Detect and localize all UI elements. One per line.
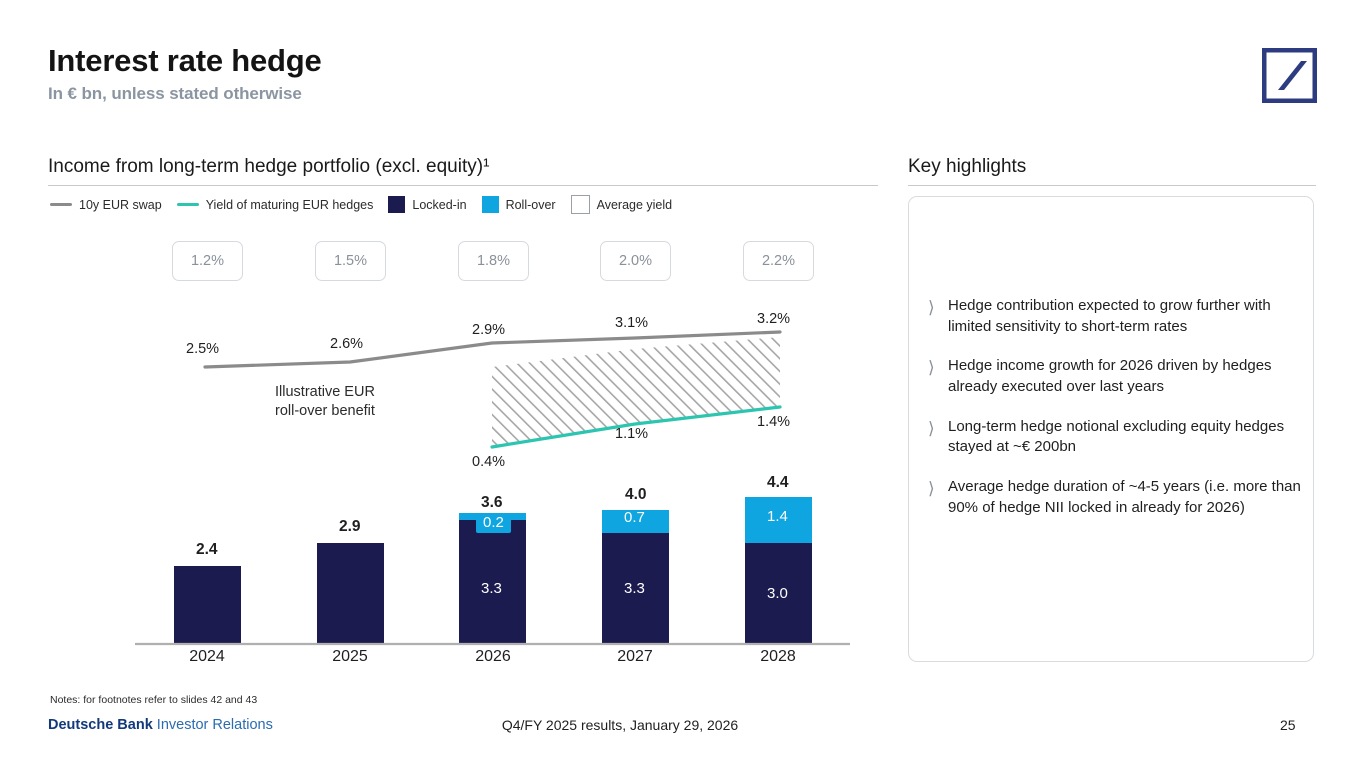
list-item: ⟩ Long-term hedge notional excluding equ… <box>922 417 1314 458</box>
bar-segment-label-locked-in-2028: 3.0 <box>767 585 788 602</box>
right-section-heading: Key highlights <box>908 156 1026 178</box>
bar-segment-label-locked-in-2026: 3.3 <box>481 580 502 597</box>
list-item-text: Hedge contribution expected to grow furt… <box>948 296 1314 337</box>
bar-locked-in-2024 <box>174 566 241 643</box>
chart-graphics <box>0 0 880 700</box>
bar-segment-label-roll-over-2026: 0.2 <box>476 513 511 533</box>
list-item: ⟩ Hedge contribution expected to grow fu… <box>922 296 1314 337</box>
page-number: 25 <box>1280 717 1296 733</box>
swap-label-2025: 2.6% <box>330 336 363 352</box>
x-tick-2028: 2028 <box>728 648 828 666</box>
illustrative-annotation-line2: roll-over benefit <box>275 402 375 421</box>
chevron-right-icon: ⟩ <box>922 477 948 518</box>
swap-label-2026: 2.9% <box>472 322 505 338</box>
bar-total-label-2026: 3.6 <box>481 494 503 512</box>
swap-label-2024: 2.5% <box>186 341 219 357</box>
x-tick-2026: 2026 <box>443 648 543 666</box>
bar-segment-label-roll-over-2028: 1.4 <box>767 508 788 525</box>
illustrative-annotation: Illustrative EUR roll-over benefit <box>275 383 375 421</box>
footer-center-text: Q4/FY 2025 results, January 29, 2026 <box>0 717 1240 733</box>
x-tick-2027: 2027 <box>585 648 685 666</box>
bar-segment-label-locked-in-2027: 3.3 <box>624 580 645 597</box>
footnote-reference: Notes: for footnotes refer to slides 42 … <box>50 694 257 706</box>
bar-total-label-2025: 2.9 <box>339 518 361 536</box>
list-item: ⟩ Hedge income growth for 2026 driven by… <box>922 356 1314 397</box>
chevron-right-icon: ⟩ <box>922 296 948 337</box>
key-highlights-list: ⟩ Hedge contribution expected to grow fu… <box>922 296 1314 538</box>
maturing-yield-label-2026: 0.4% <box>472 454 505 470</box>
bar-total-label-2024: 2.4 <box>196 541 218 559</box>
swap-label-2027: 3.1% <box>615 315 648 331</box>
bar-total-label-2027: 4.0 <box>625 486 647 504</box>
bar-total-label-2028: 4.4 <box>767 474 789 492</box>
chevron-right-icon: ⟩ <box>922 356 948 397</box>
swap-label-2028: 3.2% <box>757 311 790 327</box>
x-tick-2024: 2024 <box>157 648 257 666</box>
bar-segment-label-roll-over-2027: 0.7 <box>624 509 645 526</box>
x-tick-2025: 2025 <box>300 648 400 666</box>
maturing-yield-label-2027: 1.1% <box>615 426 648 442</box>
list-item-text: Long-term hedge notional excluding equit… <box>948 417 1314 458</box>
list-item: ⟩ Average hedge duration of ~4-5 years (… <box>922 477 1314 518</box>
chevron-right-icon: ⟩ <box>922 417 948 458</box>
bar-locked-in-2025 <box>317 543 384 643</box>
maturing-yield-label-2028: 1.4% <box>757 414 790 430</box>
list-item-text: Average hedge duration of ~4-5 years (i.… <box>948 477 1314 518</box>
slide: Interest rate hedge In € bn, unless stat… <box>0 0 1365 768</box>
right-heading-rule <box>908 185 1316 186</box>
deutsche-bank-logo <box>1262 48 1317 103</box>
illustrative-annotation-line1: Illustrative EUR <box>275 383 375 402</box>
list-item-text: Hedge income growth for 2026 driven by h… <box>948 356 1314 397</box>
